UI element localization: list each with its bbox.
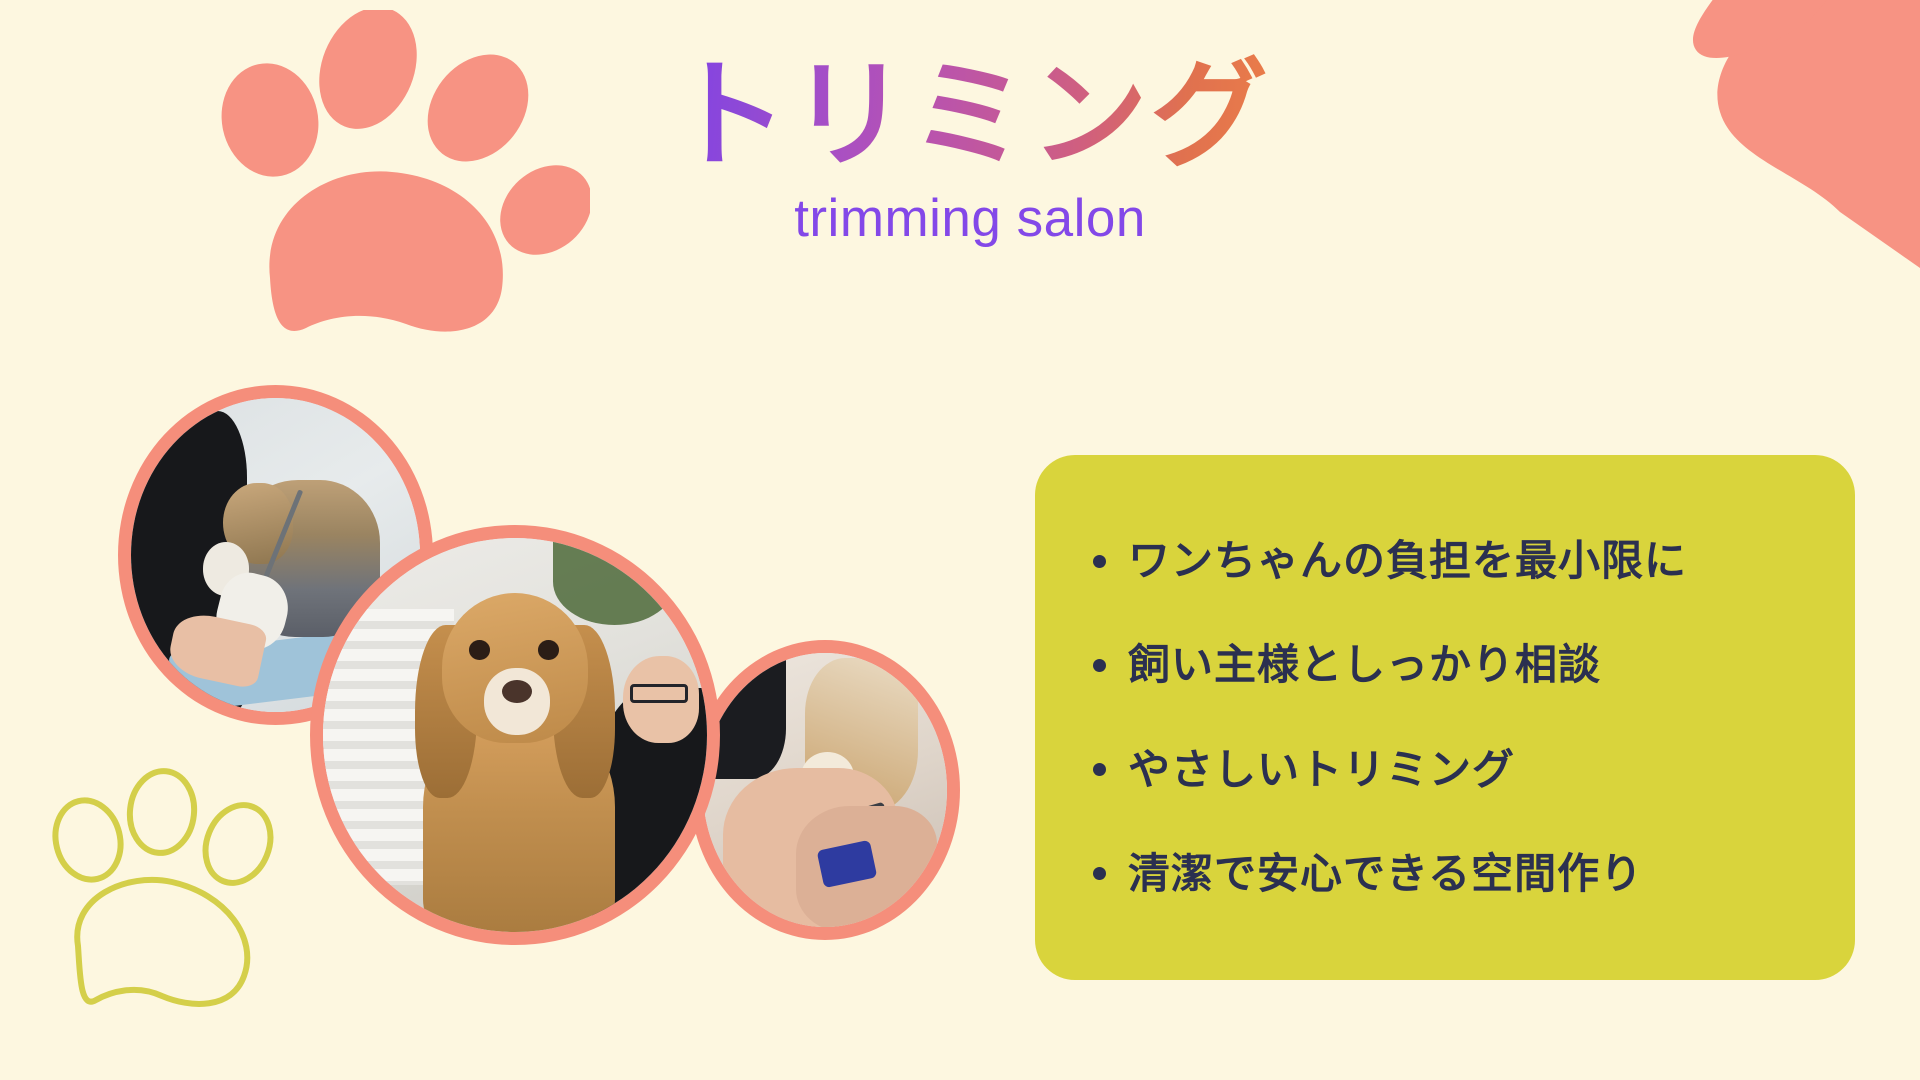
- photo-nail-clipping: [690, 640, 960, 940]
- paw-print-solid-icon: [210, 10, 590, 340]
- star-burst-icon: [1510, 0, 1920, 290]
- feature-item-label: 飼い主様としっかり相談: [1128, 642, 1601, 688]
- feature-item-label: やさしいトリミング: [1128, 747, 1515, 793]
- bullet-icon: [1093, 659, 1106, 672]
- bullet-icon: [1093, 867, 1106, 880]
- feature-item-label: 清潔で安心できる空間作り: [1128, 851, 1643, 897]
- feature-item: 清潔で安心できる空間作り: [1093, 851, 1799, 897]
- photo-cocker-spaniel-portrait: [310, 525, 720, 945]
- poster-canvas: トリミング trimming salon: [0, 0, 1920, 1080]
- title-block: トリミング trimming salon: [640, 50, 1300, 249]
- bullet-icon: [1093, 763, 1106, 776]
- feature-item-label: ワンちゃんの負担を最小限に: [1128, 538, 1687, 584]
- feature-item: 飼い主様としっかり相談: [1093, 642, 1799, 688]
- page-title: トリミング: [640, 50, 1300, 182]
- bullet-icon: [1093, 555, 1106, 568]
- page-subtitle: trimming salon: [640, 188, 1300, 249]
- paw-print-outline-icon: [40, 760, 290, 1050]
- feature-list-card: ワンちゃんの負担を最小限に 飼い主様としっかり相談 やさしいトリミング 清潔で安…: [1035, 455, 1855, 980]
- feature-item: ワンちゃんの負担を最小限に: [1093, 538, 1799, 584]
- feature-item: やさしいトリミング: [1093, 747, 1799, 793]
